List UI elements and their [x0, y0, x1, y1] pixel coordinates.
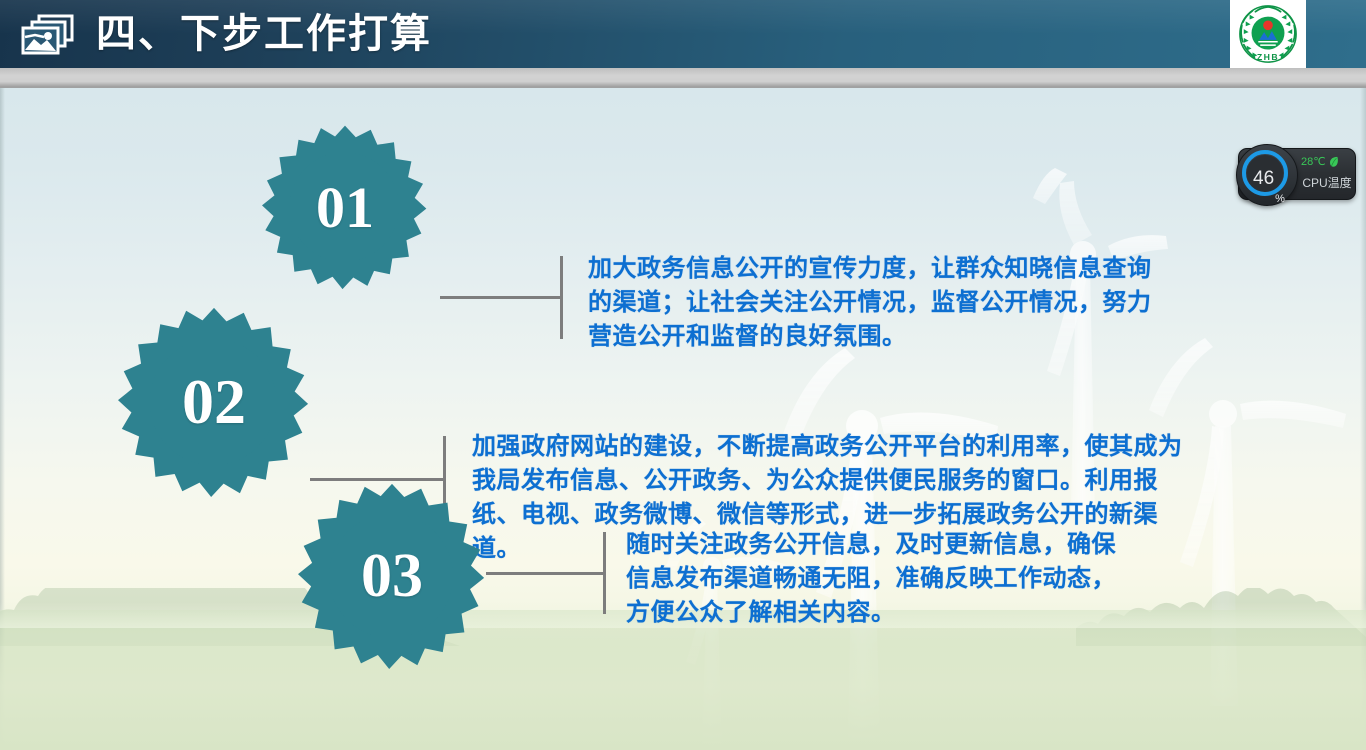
leaf-icon — [1328, 156, 1339, 168]
ground-field — [0, 610, 1366, 750]
cpu-percent-value: 46 — [1253, 168, 1274, 190]
page-title: 四、下步工作打算 — [96, 7, 432, 61]
gear-badge-02[interactable]: 02 — [118, 306, 310, 498]
presentation-slide: 四、下步工作打算 — [0, 0, 1366, 750]
zhb-logo: ZHB — [1230, 0, 1306, 68]
slide-header: 四、下步工作打算 — [0, 0, 1366, 68]
gear-icon — [298, 482, 486, 670]
cpu-monitor-widget[interactable]: 46% 28℃ CPU温度 — [1238, 148, 1356, 200]
gear-icon — [118, 306, 310, 498]
svg-text:ZHB: ZHB — [1257, 52, 1279, 62]
temperature-readout: 28℃ — [1301, 155, 1353, 168]
percent-symbol: % — [1275, 193, 1285, 205]
gear-badge-01[interactable]: 01 — [262, 124, 428, 290]
slide-body: 01 加大政务信息公开的宣传力度，让群众知晓信息查询的渠道；让社会关注公开情况，… — [0, 88, 1366, 750]
gear-icon — [262, 124, 428, 290]
connector-01 — [440, 296, 566, 299]
gear-badge-03[interactable]: 03 — [298, 482, 486, 670]
connector-03 — [486, 572, 612, 575]
header-separator — [0, 68, 1366, 90]
item-text-01: 加大政务信息公开的宣传力度，让群众知晓信息查询的渠道；让社会关注公开情况，监督公… — [588, 252, 1158, 354]
image-stack-icon — [17, 13, 79, 57]
temperature-value: 28℃ — [1301, 155, 1326, 168]
cpu-temp-label: CPU温度 — [1299, 174, 1355, 191]
item-text-03: 随时关注政务公开信息，及时更新信息，确保信息发布渠道畅通无阻，准确反映工作动态，… — [626, 528, 1138, 630]
cpu-percent: 46% — [1239, 149, 1299, 209]
connector-02 — [310, 478, 450, 481]
